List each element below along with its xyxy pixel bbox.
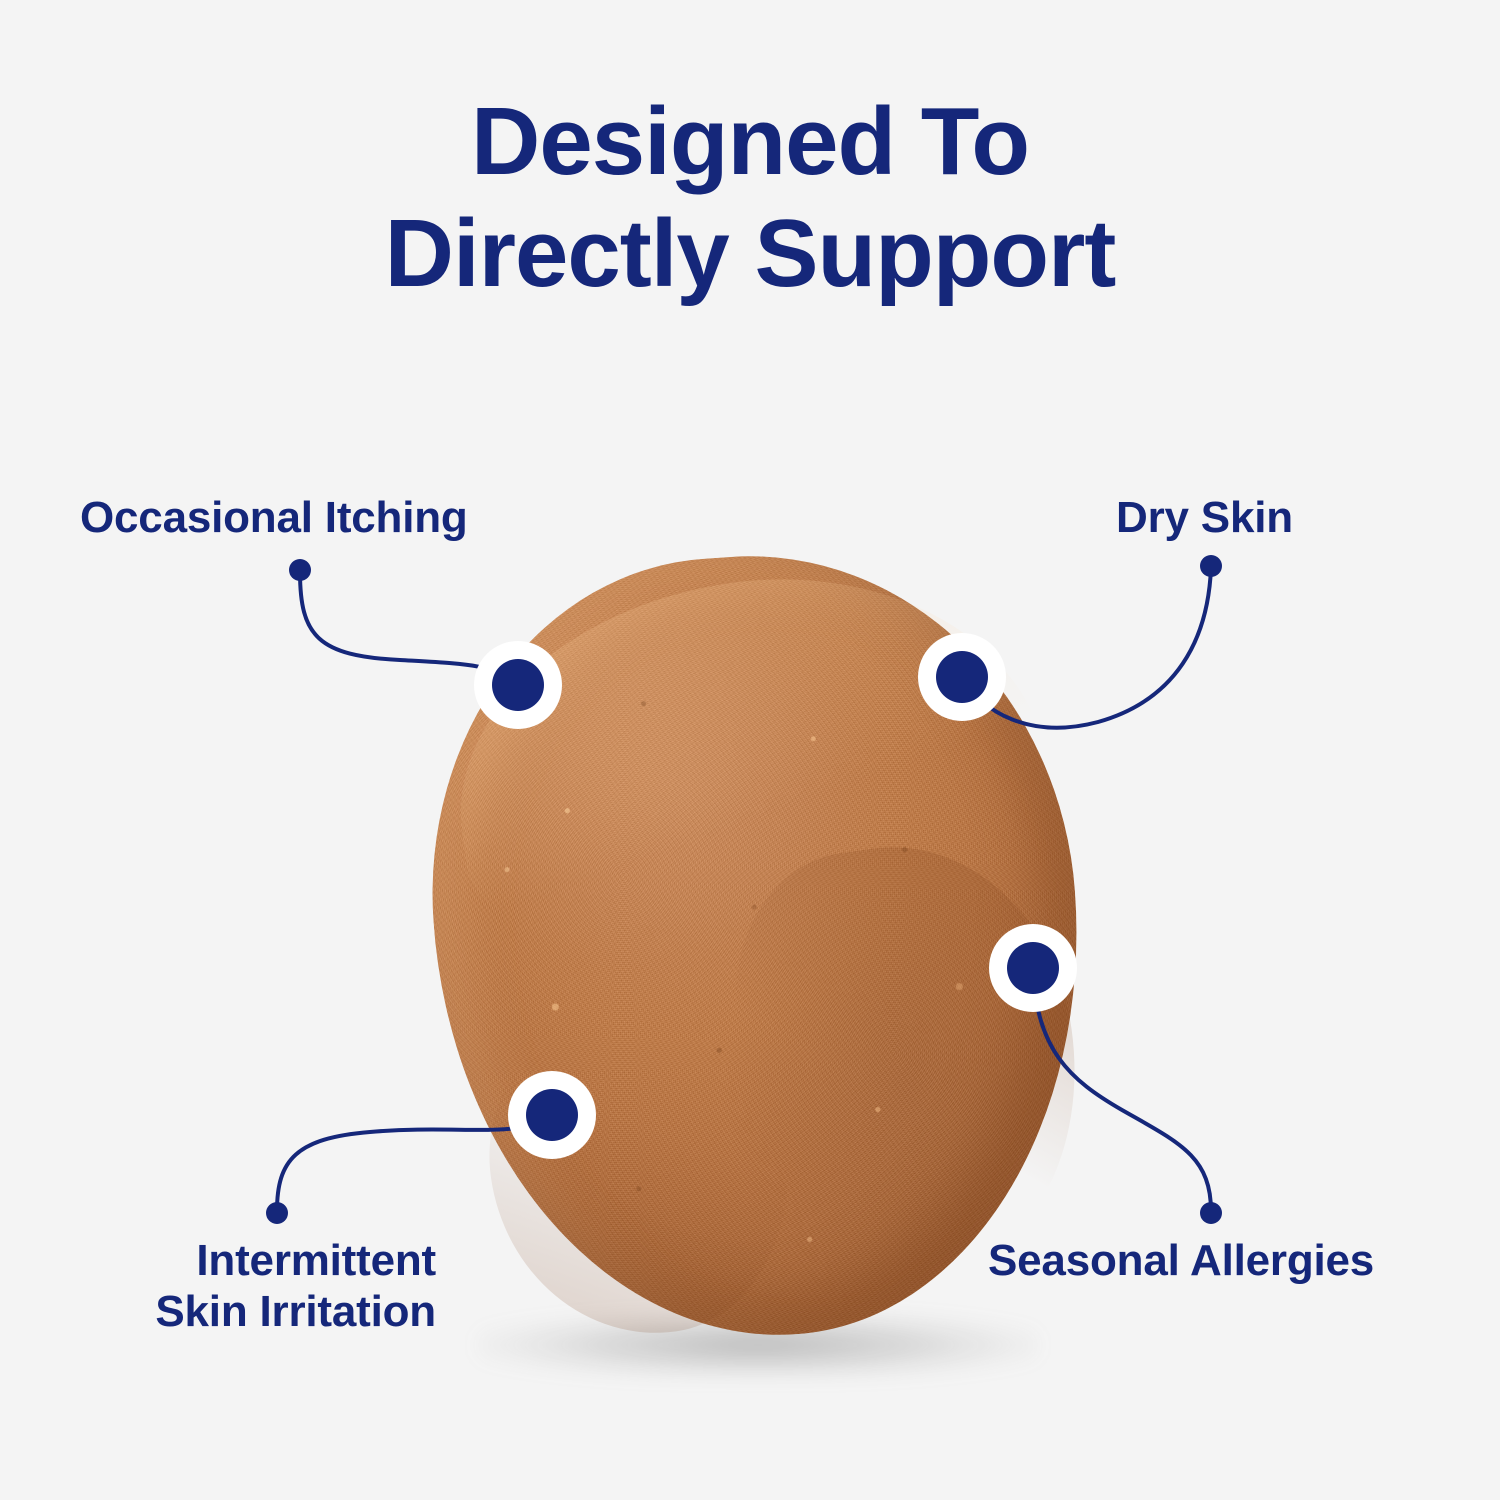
marker-intermittent-skin-irritation[interactable] [508,1071,596,1159]
anchor-dot-dry-skin [1200,555,1222,577]
chew-shade-facet-left [470,985,813,1354]
infographic-canvas: Designed To Directly Support [0,0,1500,1500]
callout-label-dry-skin: Dry Skin [1116,492,1293,543]
chew-highlight-facet [433,543,1067,982]
chew-shade-facet-right [716,825,1103,1297]
callout-label-occasional-itching: Occasional Itching [80,492,468,543]
marker-dot-icon [1007,942,1059,994]
anchor-dot-intermittent-skin-irritation [266,1202,288,1224]
marker-dot-icon [526,1089,578,1141]
callout-label-intermittent-skin-irritation: Intermittent Skin Irritation [122,1235,436,1338]
page-title: Designed To Directly Support [0,86,1500,311]
marker-dot-icon [936,651,988,703]
anchor-dot-seasonal-allergies [1200,1202,1222,1224]
marker-occasional-itching[interactable] [474,641,562,729]
marker-dot-icon [492,659,544,711]
marker-dry-skin[interactable] [918,633,1006,721]
marker-seasonal-allergies[interactable] [989,924,1077,1012]
anchor-dot-occasional-itching [289,559,311,581]
page-title-line-2: Directly Support [0,198,1500,310]
page-title-line-1: Designed To [0,86,1500,198]
callout-label-seasonal-allergies: Seasonal Allergies [988,1235,1374,1286]
